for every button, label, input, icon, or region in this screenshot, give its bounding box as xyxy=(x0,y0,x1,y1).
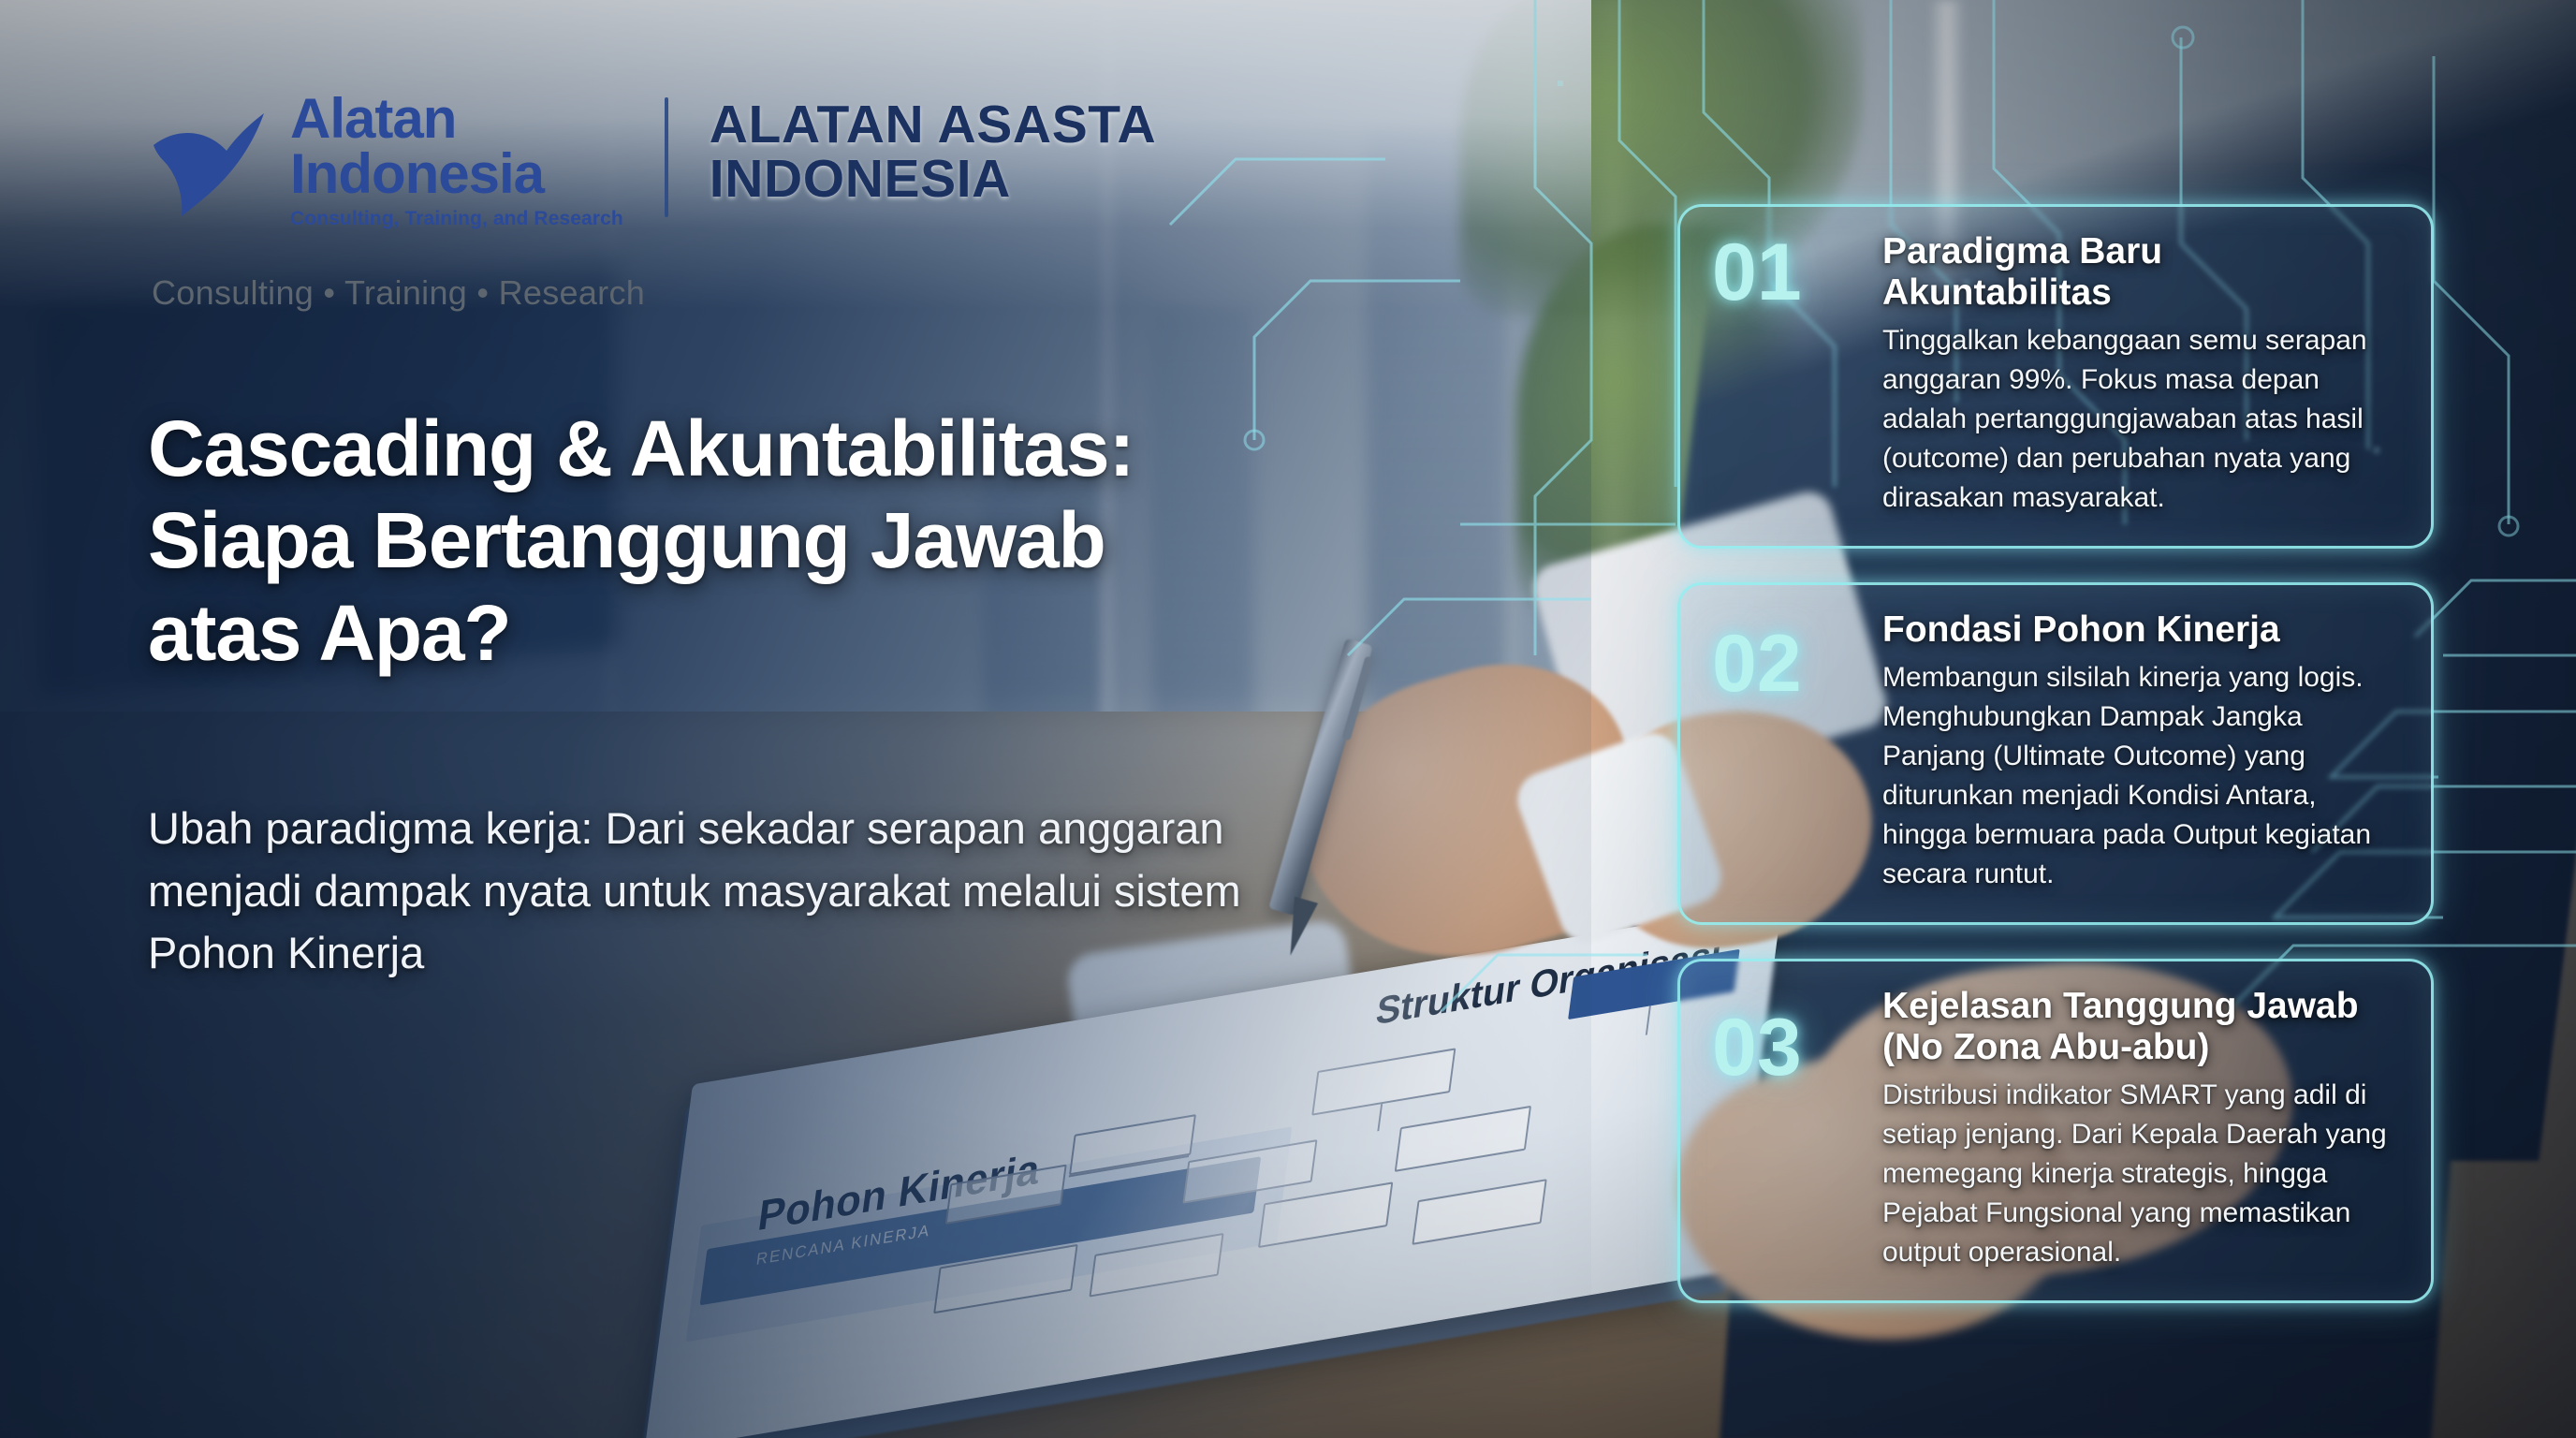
headline-line-1: Cascading & Akuntabilitas: xyxy=(148,403,1571,494)
logo-wordmark: Alatan Indonesia Consulting, Training, a… xyxy=(290,92,623,228)
company-name: ALATAN ASASTA INDONESIA xyxy=(710,97,1156,206)
card-title-02: Fondasi Pohon Kinerja xyxy=(1882,609,2399,651)
brand-tagline: Consulting • Training • Research xyxy=(152,273,645,313)
key-point-card-02[interactable]: 02 Fondasi Pohon Kinerja Membangun silsi… xyxy=(1677,582,2434,925)
card-body: Kejelasan Tanggung Jawab (No Zona Abu-ab… xyxy=(1882,986,2399,1272)
bird-checkmark-icon xyxy=(150,106,270,218)
card-number-01: 01 xyxy=(1712,231,1862,312)
header-divider xyxy=(665,97,668,217)
headline-line-3: atas Apa? xyxy=(148,587,1571,679)
logo-line-1: Alatan xyxy=(290,92,623,147)
card-body: Fondasi Pohon Kinerja Membangun silsilah… xyxy=(1882,609,2399,894)
brand-header: Alatan Indonesia Consulting, Training, a… xyxy=(150,92,1156,228)
key-points-list: 01 Paradigma Baru Akuntabilitas Tinggalk… xyxy=(1677,204,2434,1303)
key-point-card-01[interactable]: 01 Paradigma Baru Akuntabilitas Tinggalk… xyxy=(1677,204,2434,549)
page-title: Cascading & Akuntabilitas: Siapa Bertang… xyxy=(148,403,1571,679)
card-text-02: Membangun silsilah kinerja yang logis. M… xyxy=(1882,658,2399,894)
headline-line-2: Siapa Bertanggung Jawab xyxy=(148,494,1571,586)
card-number-03: 03 xyxy=(1712,986,1862,1087)
card-text-01: Tinggalkan kebanggaan semu serapan angga… xyxy=(1882,321,2399,518)
alatan-logo: Alatan Indonesia Consulting, Training, a… xyxy=(150,92,623,228)
card-body: Paradigma Baru Akuntabilitas Tinggalkan … xyxy=(1882,231,2399,518)
infographic-canvas: Pohon Kinerja RENCANA KINERJA Struktur O… xyxy=(0,0,2576,1438)
card-number-02: 02 xyxy=(1712,609,1862,703)
card-text-03: Distribusi indikator SMART yang adil di … xyxy=(1882,1076,2399,1272)
logo-line-2: Indonesia xyxy=(290,147,623,202)
card-title-03: Kejelasan Tanggung Jawab (No Zona Abu-ab… xyxy=(1882,986,2399,1068)
key-point-card-03[interactable]: 03 Kejelasan Tanggung Jawab (No Zona Abu… xyxy=(1677,959,2434,1303)
logo-descriptor: Consulting, Training, and Research xyxy=(290,210,623,229)
company-name-line-1: ALATAN ASASTA xyxy=(710,97,1156,152)
page-subtitle: Ubah paradigma kerja: Dari sekadar serap… xyxy=(148,798,1365,985)
card-title-01: Paradigma Baru Akuntabilitas xyxy=(1882,231,2399,314)
company-name-line-2: INDONESIA xyxy=(710,152,1156,206)
